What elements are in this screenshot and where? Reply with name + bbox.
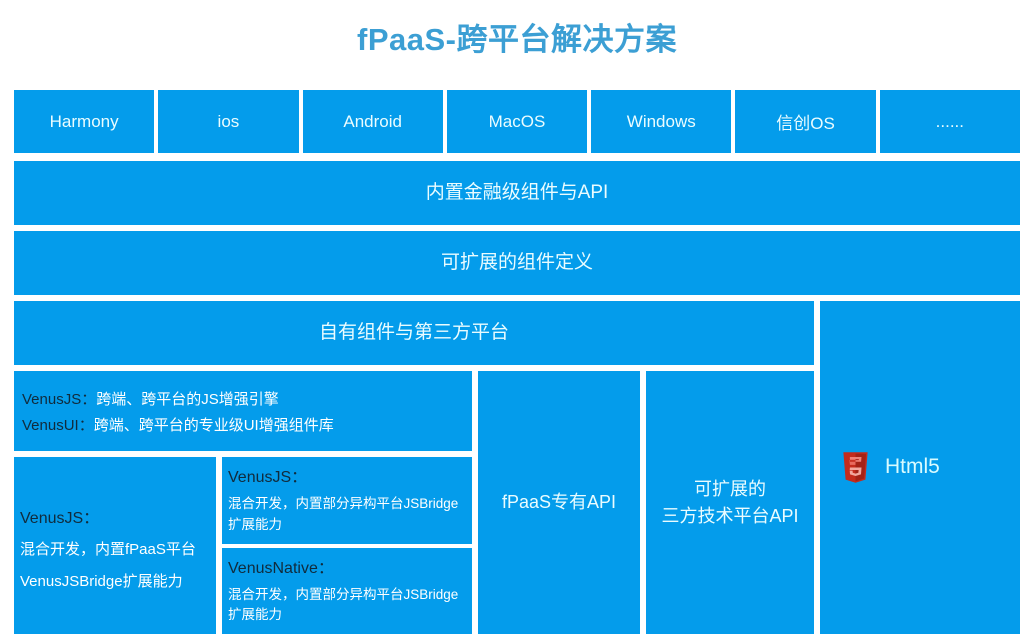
venus-summary-desc: 跨端、跨平台的JS增强引擎 [96,391,279,408]
os-cell-label: Windows [627,112,696,132]
venus-summary-key: VenusUI： [22,417,94,434]
band-own-and-thirdparty-platform[interactable]: 自有组件与第三方平台 [14,301,814,365]
venus-summary-line-ui: VenusUI：跨端、跨平台的专业级UI增强组件库 [22,418,464,435]
os-cell-label: 信创OS [776,109,835,134]
api-column-label: fPaaS专有API [502,489,616,515]
venusjs-fpaas-bridge-cell[interactable]: VenusJS： 混合开发，内置fPaaS平台 VenusJSBridge扩展能… [14,457,216,634]
venus-summary-block[interactable]: VenusJS：跨端、跨平台的JS增强引擎 VenusUI：跨端、跨平台的专业级… [14,371,472,451]
html5-inner: Html5 [842,452,940,483]
diagram-canvas: fPaaS-跨平台解决方案 Harmony ios Android MacOS … [0,0,1034,634]
cell-key-label: VenusJS： [20,504,210,528]
cell-desc: 混合开发，内置部分异构平台JSBridge扩展能力 [228,587,458,623]
page-title: fPaaS-跨平台解决方案 [0,14,1034,59]
os-cell-label: Android [343,112,402,132]
venusnative-heterogeneous-cell[interactable]: VenusNative： 混合开发，内置部分异构平台JSBridge扩展能力 [222,548,472,634]
api-column-label-line1: 可扩展的 [694,476,766,502]
venus-summary-line-js: VenusJS：跨端、跨平台的JS增强引擎 [22,392,464,409]
html5-label: Html5 [885,452,940,482]
venusjs-heterogeneous-cell[interactable]: VenusJS： 混合开发，内置部分异构平台JSBridge扩展能力 [222,457,472,544]
api-column-label-line2: 三方技术平台API [661,503,798,529]
os-cell-label: ios [218,112,240,132]
band-extensible-component-definition[interactable]: 可扩展的组件定义 [14,231,1020,295]
os-cell-harmony[interactable]: Harmony [14,90,154,153]
band-label: 内置金融级组件与API [426,179,609,207]
html5-panel[interactable]: Html5 [820,301,1020,634]
os-cell-android[interactable]: Android [303,90,443,153]
third-party-platform-api-column[interactable]: 可扩展的 三方技术平台API [646,371,814,634]
cell-desc: 混合开发，内置部分异构平台JSBridge扩展能力 [228,496,458,532]
venus-summary-desc: 跨端、跨平台的专业级UI增强组件库 [94,417,334,434]
os-cell-ios[interactable]: ios [158,90,298,153]
os-cell-label: Harmony [50,112,119,132]
os-cell-more[interactable]: ...... [880,90,1020,153]
cell-key-label: VenusJS： [228,463,466,487]
cell-desc-line-1: 混合开发，内置fPaaS平台 [20,540,210,560]
cell-desc-line-2: VenusJSBridge扩展能力 [20,572,210,592]
os-platform-row: Harmony ios Android MacOS Windows 信创OS .… [14,90,1020,153]
venus-detail-column: VenusJS： 混合开发，内置部分异构平台JSBridge扩展能力 Venus… [222,457,472,634]
os-cell-windows[interactable]: Windows [591,90,731,153]
html5-shield-icon [842,452,869,483]
os-cell-macos[interactable]: MacOS [447,90,587,153]
venus-summary-key: VenusJS： [22,391,96,408]
band-builtin-financial-components[interactable]: 内置金融级组件与API [14,161,1020,225]
fpaas-proprietary-api-column[interactable]: fPaaS专有API [478,371,640,634]
os-cell-xinchuang-os[interactable]: 信创OS [735,90,875,153]
os-cell-label: ...... [936,112,964,132]
band-label: 自有组件与第三方平台 [319,319,509,347]
band-label: 可扩展的组件定义 [441,249,593,277]
os-cell-label: MacOS [489,112,546,132]
cell-key-label: VenusNative： [228,554,466,578]
